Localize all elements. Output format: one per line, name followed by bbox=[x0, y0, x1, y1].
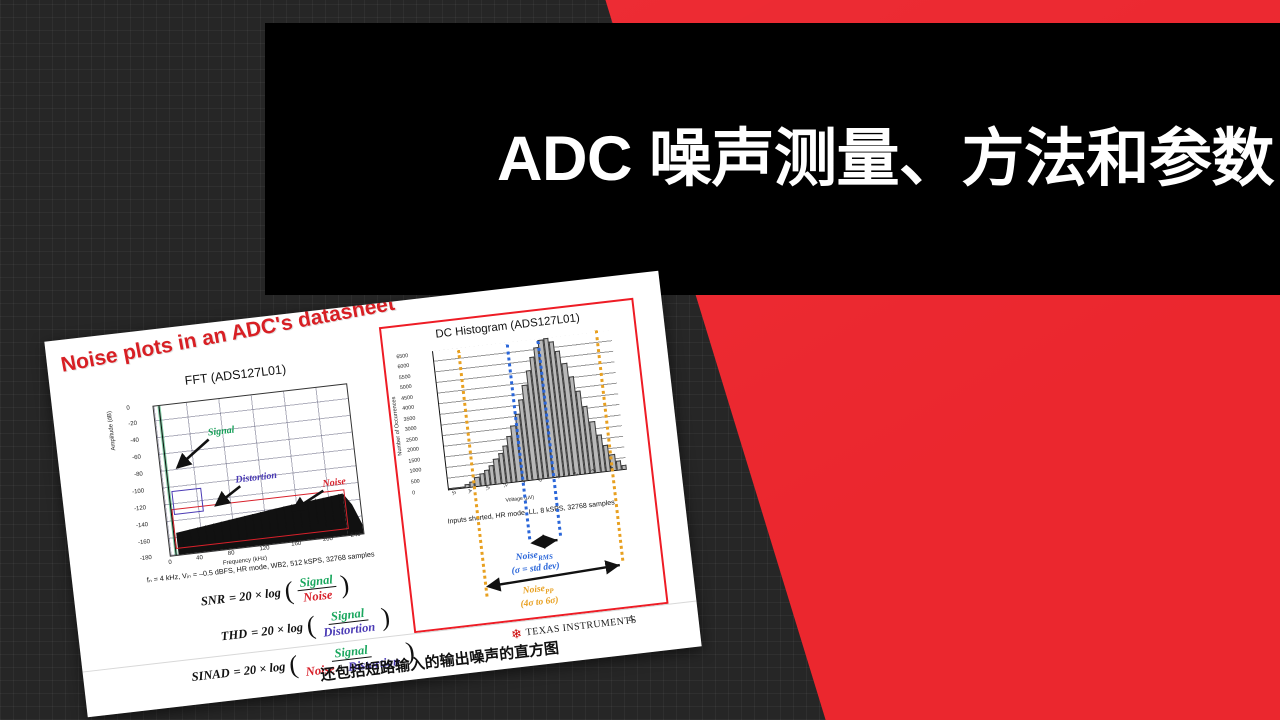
formula-operator: = 20 × log bbox=[250, 620, 303, 641]
formula-fraction: Signal Noise bbox=[296, 572, 339, 606]
slide-canvas: Noise plots in an ADC's datasheet FFT (A… bbox=[44, 271, 701, 718]
formula-name: SINAD bbox=[171, 666, 230, 688]
page-title: ADC 噪声测量、方法和参数 bbox=[497, 128, 1280, 191]
paren-open: ( bbox=[306, 616, 317, 638]
formula-name: THD bbox=[189, 627, 248, 649]
paren-open: ( bbox=[284, 581, 295, 603]
noise-rms-text: Noise bbox=[515, 550, 538, 562]
paren-close: ) bbox=[380, 607, 391, 629]
formula-operator: = 20 × log bbox=[228, 586, 281, 607]
formula-name: SNR bbox=[167, 592, 226, 614]
formula-fraction: Signal Distortion bbox=[318, 604, 379, 640]
title-band: ADC 噪声测量、方法和参数 bbox=[265, 23, 1280, 295]
noise-pp-note: (4σ to 6σ) bbox=[520, 595, 559, 609]
slide-page-number: 4 bbox=[628, 614, 635, 626]
noise-pp-sub: PP bbox=[545, 587, 554, 596]
noise-pp-text: Noise bbox=[522, 584, 545, 596]
formula-denominator: Noise bbox=[300, 587, 337, 605]
ti-logo-icon: ❄ bbox=[510, 627, 522, 641]
embedded-slide-image[interactable]: Noise plots in an ADC's datasheet FFT (A… bbox=[44, 271, 701, 718]
paren-close: ) bbox=[339, 575, 350, 597]
